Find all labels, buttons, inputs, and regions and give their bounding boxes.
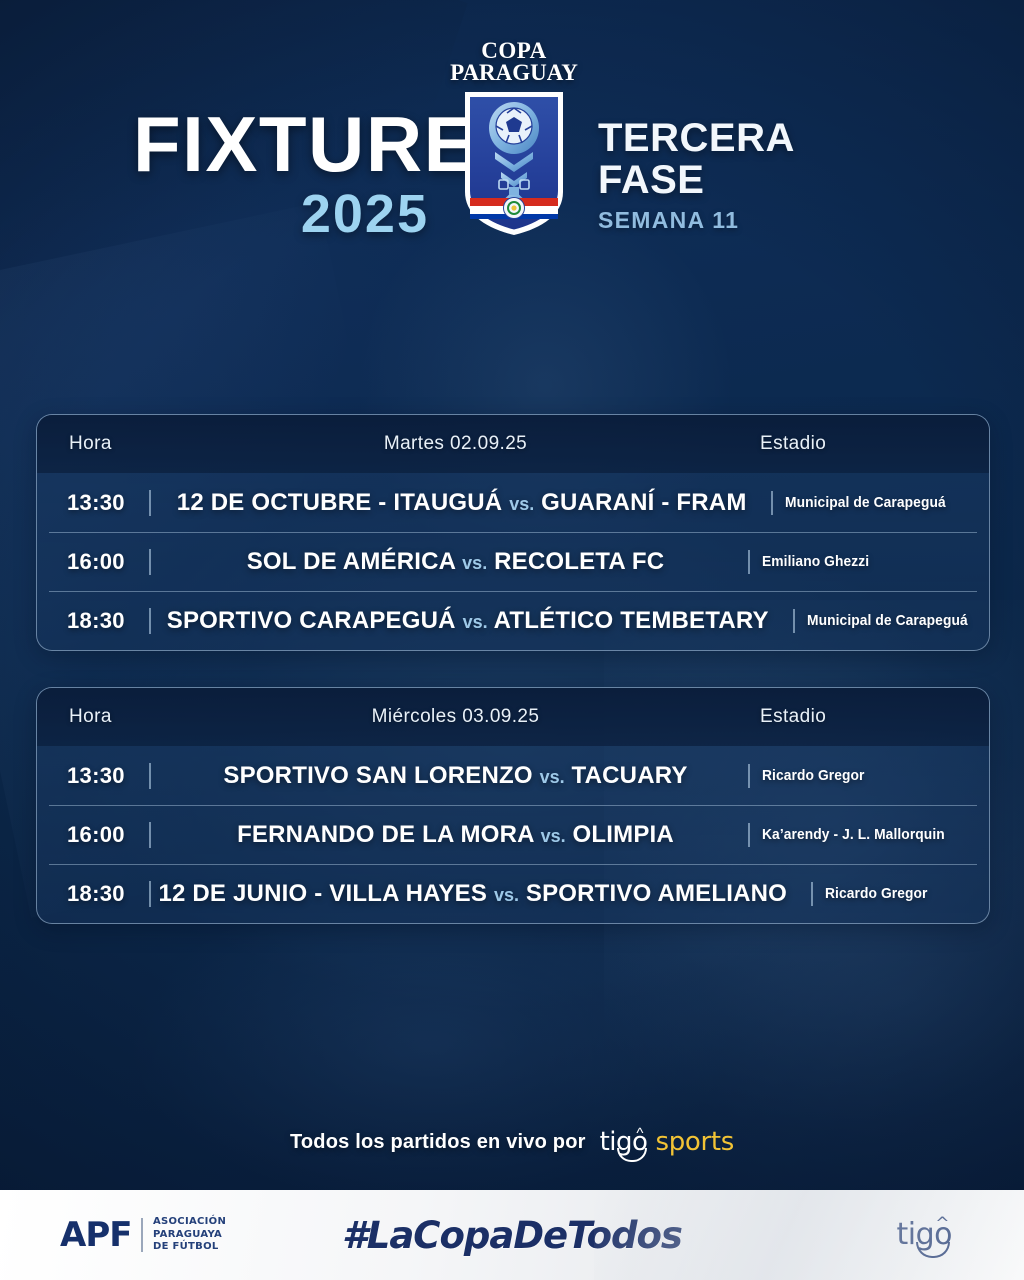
divider (149, 881, 151, 907)
vs-label: vs. (463, 612, 488, 632)
season-year: 2025 (133, 183, 433, 245)
poster-header: FIXTURE 2025 COPA PARAGUAY (0, 0, 1024, 290)
smile-arc-icon (617, 1148, 647, 1162)
tigo-footer-logo: tigo ^ (897, 1220, 953, 1250)
table-row[interactable]: 18:30 SPORTIVO CARAPEGUÁ vs. ATLÉTICO TE… (37, 591, 989, 650)
match-stadium: Municipal de Carapeguá (807, 612, 968, 629)
circumflex-icon: ^ (935, 1216, 949, 1233)
phase-line-2: FASE (598, 160, 795, 200)
home-team: 12 DE JUNIO - VILLA HAYES (158, 880, 487, 907)
fixture-title-block: FIXTURE 2025 (133, 110, 433, 245)
away-team: TACUARY (572, 762, 688, 789)
vs-label: vs. (462, 553, 487, 573)
match-time: 18:30 (67, 881, 125, 907)
divider (748, 764, 750, 788)
divider (149, 822, 151, 848)
fixture-day-card: Hora Martes 02.09.25 Estadio 13:30 12 DE… (36, 414, 990, 651)
divider (149, 763, 151, 789)
table-row[interactable]: 13:30 SPORTIVO SAN LORENZO vs. TACUARY R… (37, 746, 989, 805)
campaign-hashtag: #LaCopaDeTodos (0, 1214, 1024, 1257)
divider (149, 608, 151, 634)
table-row[interactable]: 18:30 12 DE JUNIO - VILLA HAYES vs. SPOR… (37, 864, 989, 923)
match-teams: SPORTIVO SAN LORENZO vs. TACUARY (223, 762, 687, 789)
fixture-poster: FIXTURE 2025 COPA PARAGUAY (0, 0, 1024, 1280)
divider (149, 490, 151, 516)
match-teams: 12 DE OCTUBRE - ITAUGUÁ vs. GUARANÍ - FR… (177, 489, 747, 516)
crest-wordmark-line2: PARAGUAY (444, 62, 584, 84)
table-row[interactable]: 13:30 12 DE OCTUBRE - ITAUGUÁ vs. GUARAN… (37, 473, 989, 532)
column-header-hora: Hora (69, 706, 112, 727)
column-header-estadio: Estadio (760, 433, 826, 454)
table-header-row: Hora Martes 02.09.25 Estadio (37, 415, 989, 473)
tigo-sports-logo: tigo ^ sports (600, 1129, 734, 1155)
vs-label: vs. (494, 885, 519, 905)
away-team: ATLÉTICO TEMBETARY (494, 607, 769, 634)
crest-wordmark: COPA PARAGUAY (444, 40, 584, 84)
match-teams: 12 DE JUNIO - VILLA HAYES vs. SPORTIVO A… (158, 880, 787, 907)
divider (771, 491, 773, 515)
broadcast-strip: Todos los partidos en vivo por tigo ^ sp… (0, 1112, 1024, 1172)
broadcast-text: Todos los partidos en vivo por (290, 1131, 586, 1154)
column-header-estadio: Estadio (760, 706, 826, 727)
vs-label: vs. (541, 826, 566, 846)
day-date-label: Miércoles 03.09.25 (372, 706, 540, 727)
match-teams: SOL DE AMÉRICA vs. RECOLETA FC (247, 548, 665, 575)
divider (149, 549, 151, 575)
match-stadium: Municipal de Carapeguá (785, 494, 946, 511)
vs-label: vs. (509, 494, 534, 514)
vs-label: vs. (540, 767, 565, 787)
day-date-label: Martes 02.09.25 (384, 433, 527, 454)
poster-footer: APF ASOCIACIÓN PARAGUAYA DE FÚTBOL #LaCo… (0, 1190, 1024, 1280)
match-teams: FERNANDO DE LA MORA vs. OLIMPIA (237, 821, 674, 848)
away-team: GUARANÍ - FRAM (541, 489, 746, 516)
table-row[interactable]: 16:00 SOL DE AMÉRICA vs. RECOLETA FC Emi… (37, 532, 989, 591)
page-title: FIXTURE (133, 110, 433, 179)
phase-line-1: TERCERA (598, 118, 795, 158)
sports-wordmark: sports (655, 1129, 734, 1155)
match-time: 18:30 (67, 608, 125, 634)
circumflex-icon: ^ (636, 1126, 643, 1141)
home-team: FERNANDO DE LA MORA (237, 821, 534, 848)
phase-block: TERCERA FASE SEMANA 11 (598, 118, 795, 234)
tigo-wordmark: tigo ^ (897, 1220, 953, 1250)
match-time: 13:30 (67, 763, 125, 789)
crest-wordmark-line1: COPA (444, 40, 584, 62)
divider (793, 609, 795, 633)
fixture-day-card: Hora Miércoles 03.09.25 Estadio 13:30 SP… (36, 687, 990, 924)
match-stadium: Ricardo Gregor (762, 767, 865, 784)
divider (811, 882, 813, 906)
copa-paraguay-crest: COPA PARAGUAY (444, 40, 584, 270)
match-teams: SPORTIVO CARAPEGUÁ vs. ATLÉTICO TEMBETAR… (167, 607, 769, 634)
match-stadium: Ricardo Gregor (825, 885, 928, 902)
tigo-mark: tigo ^ (600, 1129, 648, 1155)
away-team: RECOLETA FC (494, 548, 664, 575)
week-label: SEMANA 11 (598, 207, 795, 234)
match-stadium: Emiliano Ghezzi (762, 553, 869, 570)
divider (748, 550, 750, 574)
divider (748, 823, 750, 847)
match-stadium: Ka’arendy - J. L. Mallorquin (762, 826, 945, 843)
away-team: OLIMPIA (573, 821, 674, 848)
match-time: 16:00 (67, 822, 125, 848)
table-row[interactable]: 16:00 FERNANDO DE LA MORA vs. OLIMPIA Ka… (37, 805, 989, 864)
column-header-hora: Hora (69, 433, 112, 454)
fixture-tables: Hora Martes 02.09.25 Estadio 13:30 12 DE… (36, 414, 988, 960)
home-team: SOL DE AMÉRICA (247, 548, 456, 575)
shield-icon (459, 88, 569, 238)
home-team: 12 DE OCTUBRE - ITAUGUÁ (177, 489, 503, 516)
away-team: SPORTIVO AMELIANO (526, 880, 787, 907)
match-time: 16:00 (67, 549, 125, 575)
home-team: SPORTIVO SAN LORENZO (223, 762, 532, 789)
match-time: 13:30 (67, 490, 125, 516)
home-team: SPORTIVO CARAPEGUÁ (167, 607, 456, 634)
table-header-row: Hora Miércoles 03.09.25 Estadio (37, 688, 989, 746)
